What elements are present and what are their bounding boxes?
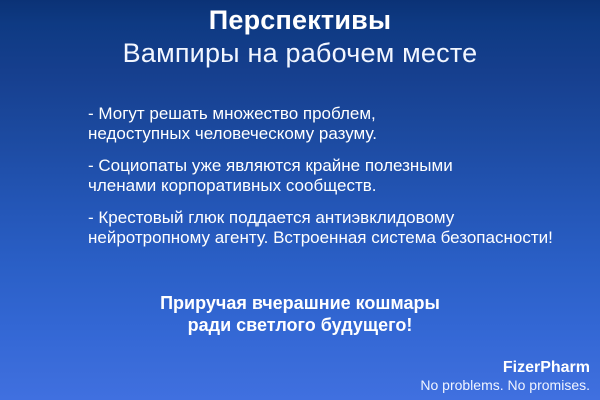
brand-slogan: No problems. No promises.: [420, 377, 590, 394]
brand-footer: FizerPharm No problems. No promises.: [420, 359, 590, 394]
page-subtitle: Вампиры на рабочем месте: [0, 36, 600, 70]
list-item: - Социопаты уже являются крайне полезным…: [88, 156, 594, 196]
page-title: Перспективы: [0, 4, 600, 36]
brand-name: FizerPharm: [420, 359, 590, 377]
presentation-slide: Перспективы Вампиры на рабочем месте - М…: [0, 0, 600, 400]
bullet-list: - Могут решать множество проблем, недост…: [88, 104, 594, 248]
list-item: - Крестовый глюк поддается антиэвклидово…: [88, 208, 594, 248]
slide-heading: Перспективы Вампиры на рабочем месте: [0, 4, 600, 70]
list-item: - Могут решать множество проблем, недост…: [88, 104, 594, 144]
slide-tagline: Приручая вчерашние кошмары ради светлого…: [0, 292, 600, 336]
